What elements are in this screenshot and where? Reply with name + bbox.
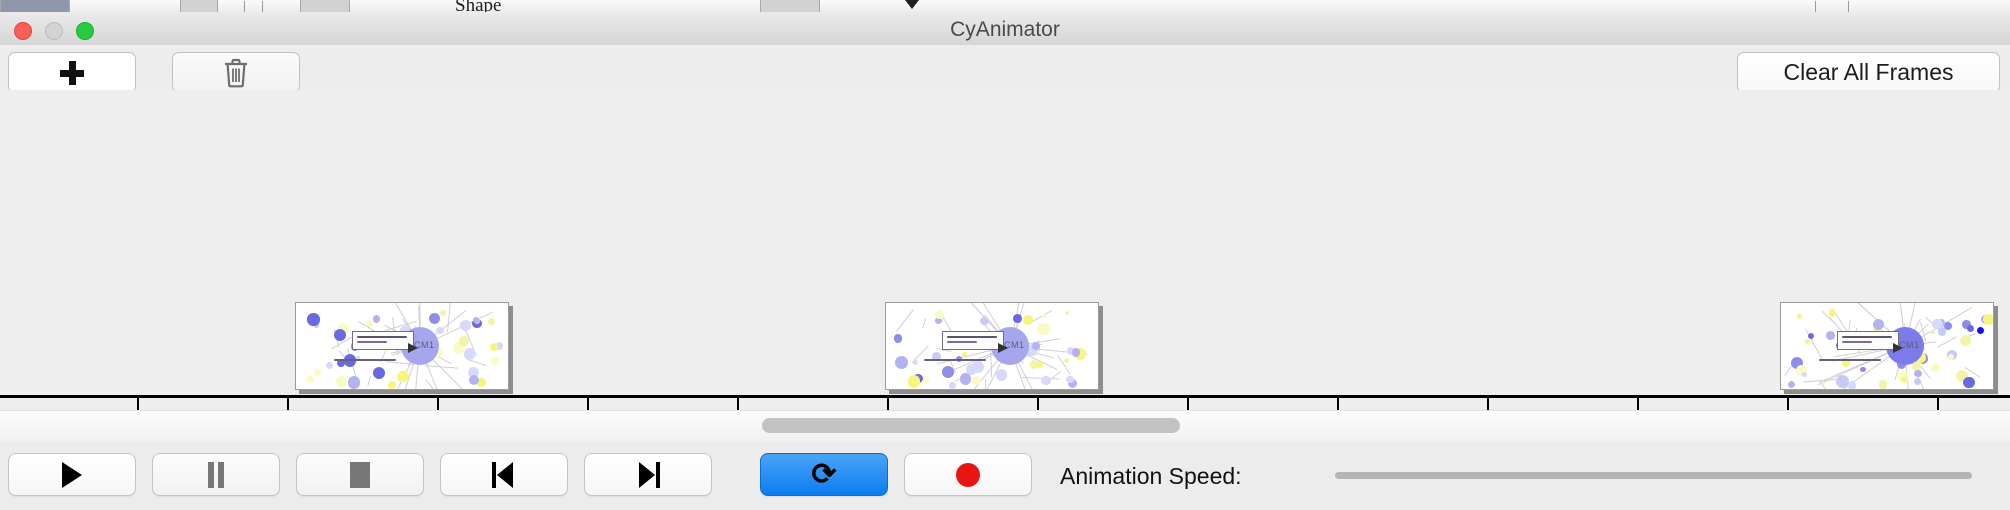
timeline-axis bbox=[0, 395, 2010, 398]
network-caption-line bbox=[334, 359, 396, 361]
axis-tick-minor bbox=[1937, 398, 1939, 410]
axis-tick-major bbox=[587, 398, 589, 410]
background-sep-2 bbox=[262, 1, 263, 12]
annotation-text-line bbox=[1842, 341, 1872, 343]
network-node bbox=[1805, 339, 1810, 344]
background-chip-4 bbox=[760, 0, 820, 12]
network-node bbox=[1041, 376, 1051, 386]
network-node bbox=[895, 356, 908, 369]
network-node bbox=[336, 376, 347, 387]
network-node bbox=[1802, 372, 1807, 377]
network-edge bbox=[367, 376, 371, 386]
timeline-frame-thumbnail[interactable]: MCM1 bbox=[295, 302, 509, 390]
axis-tick-major bbox=[1487, 398, 1489, 410]
network-node bbox=[307, 313, 319, 325]
network-node bbox=[1037, 323, 1050, 336]
network-node bbox=[488, 318, 495, 325]
background-caret-icon bbox=[905, 0, 919, 9]
network-node bbox=[1931, 330, 1936, 335]
timeline-scrollbar[interactable] bbox=[0, 410, 2010, 442]
playback-control-bar: ⟳ Animation Speed: bbox=[0, 441, 2010, 510]
network-node bbox=[1848, 381, 1856, 389]
background-chip-2 bbox=[180, 0, 218, 12]
network-node bbox=[923, 377, 929, 383]
delete-frame-button[interactable] bbox=[172, 52, 300, 93]
network-edge bbox=[922, 319, 926, 329]
network-node bbox=[1873, 319, 1884, 330]
network-node bbox=[314, 369, 321, 376]
network-node bbox=[1836, 375, 1849, 388]
annotation-pointer-icon bbox=[408, 343, 418, 353]
pause-button[interactable] bbox=[152, 453, 280, 496]
axis-tick-minor bbox=[1337, 398, 1339, 410]
trash-icon bbox=[223, 58, 249, 88]
network-node bbox=[373, 315, 381, 323]
network-node bbox=[942, 366, 954, 378]
network-caption-line bbox=[1819, 359, 1881, 361]
network-node bbox=[908, 375, 921, 388]
skip-back-icon bbox=[492, 462, 516, 488]
network-edge bbox=[1937, 336, 1957, 348]
network-node bbox=[971, 376, 981, 386]
axis-tick-minor bbox=[1637, 398, 1639, 410]
network-node bbox=[1042, 314, 1047, 319]
network-node bbox=[1983, 314, 1994, 325]
network-node bbox=[1829, 309, 1836, 316]
network-annotation-box bbox=[352, 331, 414, 350]
clear-all-frames-button[interactable]: Clear All Frames bbox=[1737, 52, 2000, 93]
annotation-pointer-icon bbox=[1893, 343, 1903, 353]
network-edge bbox=[985, 379, 986, 390]
network-node bbox=[1072, 348, 1080, 356]
axis-tick-major bbox=[1187, 398, 1189, 410]
frame-toolbar: Clear All Frames bbox=[0, 45, 2010, 91]
network-node bbox=[440, 310, 446, 316]
network-node bbox=[1860, 367, 1866, 373]
network-node bbox=[491, 357, 499, 365]
network-preview: MCM1 bbox=[1781, 303, 1993, 389]
animation-speed-slider[interactable] bbox=[1335, 472, 1972, 479]
stop-icon bbox=[350, 462, 370, 488]
annotation-text-line bbox=[357, 336, 407, 338]
network-node bbox=[1948, 354, 1954, 360]
skip-forward-icon bbox=[636, 462, 660, 488]
axis-tick-minor bbox=[1037, 398, 1039, 410]
add-frame-button[interactable] bbox=[8, 52, 136, 93]
annotation-text-line bbox=[947, 336, 997, 338]
axis-tick-minor bbox=[137, 398, 139, 410]
background-chip-1 bbox=[0, 0, 70, 12]
network-node bbox=[469, 375, 479, 385]
network-node bbox=[366, 320, 373, 327]
network-node bbox=[1788, 381, 1795, 388]
annotation-text-line bbox=[1842, 336, 1892, 338]
network-node bbox=[1977, 327, 1984, 334]
network-caption-line bbox=[924, 359, 986, 361]
timeline-frame-thumbnail[interactable]: MCM1 bbox=[1780, 302, 1994, 390]
axis-tick-major bbox=[887, 398, 889, 410]
network-node bbox=[1036, 361, 1043, 368]
loop-icon: ⟳ bbox=[811, 460, 836, 490]
network-annotation-box bbox=[942, 331, 1004, 350]
stop-button[interactable] bbox=[296, 453, 424, 496]
title-bar: CyAnimator bbox=[0, 12, 2010, 46]
network-annotation-box bbox=[1837, 331, 1899, 350]
network-node bbox=[996, 369, 1008, 381]
loop-button[interactable]: ⟳ bbox=[760, 453, 888, 496]
axis-tick-minor bbox=[737, 398, 739, 410]
plus-icon bbox=[60, 61, 84, 85]
record-icon bbox=[956, 463, 980, 487]
window-title: CyAnimator bbox=[0, 18, 2010, 42]
network-node bbox=[949, 382, 956, 389]
network-node bbox=[980, 317, 989, 326]
network-node bbox=[1065, 311, 1069, 315]
network-node bbox=[397, 371, 408, 382]
animation-speed-label: Animation Speed: bbox=[1060, 463, 1242, 490]
network-node bbox=[459, 336, 469, 346]
network-node bbox=[1932, 319, 1943, 330]
network-edge bbox=[447, 302, 451, 332]
network-edge bbox=[1784, 365, 1791, 375]
network-preview: MCM1 bbox=[886, 303, 1098, 389]
network-node bbox=[1967, 325, 1974, 332]
annotation-pointer-icon bbox=[998, 343, 1008, 353]
timeline-panel[interactable]: MCM1MCM1MCM1 2131415161718 Seconds bbox=[0, 90, 2010, 410]
network-node bbox=[1013, 314, 1022, 323]
network-edge bbox=[896, 309, 914, 332]
network-node bbox=[1066, 376, 1073, 383]
axis-tick-minor bbox=[437, 398, 439, 410]
network-node bbox=[348, 376, 360, 388]
network-node bbox=[306, 376, 313, 383]
network-edge bbox=[468, 359, 488, 366]
axis-tick-major bbox=[1787, 398, 1789, 410]
network-node bbox=[373, 367, 385, 379]
background-sep-3 bbox=[1815, 1, 1816, 12]
network-node bbox=[1879, 380, 1887, 388]
annotation-text-line bbox=[357, 341, 387, 343]
network-node bbox=[436, 327, 443, 334]
network-node bbox=[1963, 377, 1975, 389]
previous-frame-button[interactable] bbox=[440, 453, 568, 496]
play-button[interactable] bbox=[8, 453, 136, 496]
cyanimator-window: Shape CyAnimator Clear All Frames MCM1MC… bbox=[0, 0, 2010, 510]
network-node bbox=[1960, 335, 1971, 346]
network-node bbox=[971, 361, 983, 373]
network-node bbox=[894, 334, 903, 343]
network-node bbox=[464, 348, 475, 359]
timeline-scrollbar-thumb[interactable] bbox=[762, 418, 1180, 433]
background-chip-3 bbox=[300, 0, 350, 12]
network-node bbox=[1032, 342, 1040, 350]
background-sep-4 bbox=[1848, 1, 1849, 12]
timeline-frame-thumbnail[interactable]: MCM1 bbox=[885, 302, 1099, 390]
network-node bbox=[460, 320, 471, 331]
network-node bbox=[935, 310, 943, 318]
annotation-text-line bbox=[947, 341, 977, 343]
network-node bbox=[913, 360, 918, 365]
network-node bbox=[1914, 370, 1922, 378]
network-node bbox=[960, 373, 972, 385]
background-sep-1 bbox=[244, 1, 245, 12]
network-node bbox=[1901, 377, 1907, 383]
network-node bbox=[1023, 315, 1033, 325]
pause-icon bbox=[207, 462, 225, 488]
next-frame-button[interactable] bbox=[584, 453, 712, 496]
record-button[interactable] bbox=[904, 453, 1032, 496]
network-node bbox=[1931, 363, 1940, 372]
network-node bbox=[326, 362, 333, 369]
network-node bbox=[1797, 314, 1802, 319]
axis-tick-major bbox=[287, 398, 289, 410]
network-node bbox=[429, 313, 440, 324]
play-icon bbox=[62, 462, 82, 488]
network-preview: MCM1 bbox=[296, 303, 508, 389]
network-node bbox=[1826, 331, 1835, 340]
network-node bbox=[490, 343, 498, 351]
network-node bbox=[1064, 358, 1069, 363]
network-node bbox=[388, 381, 396, 389]
network-node bbox=[1821, 381, 1825, 385]
